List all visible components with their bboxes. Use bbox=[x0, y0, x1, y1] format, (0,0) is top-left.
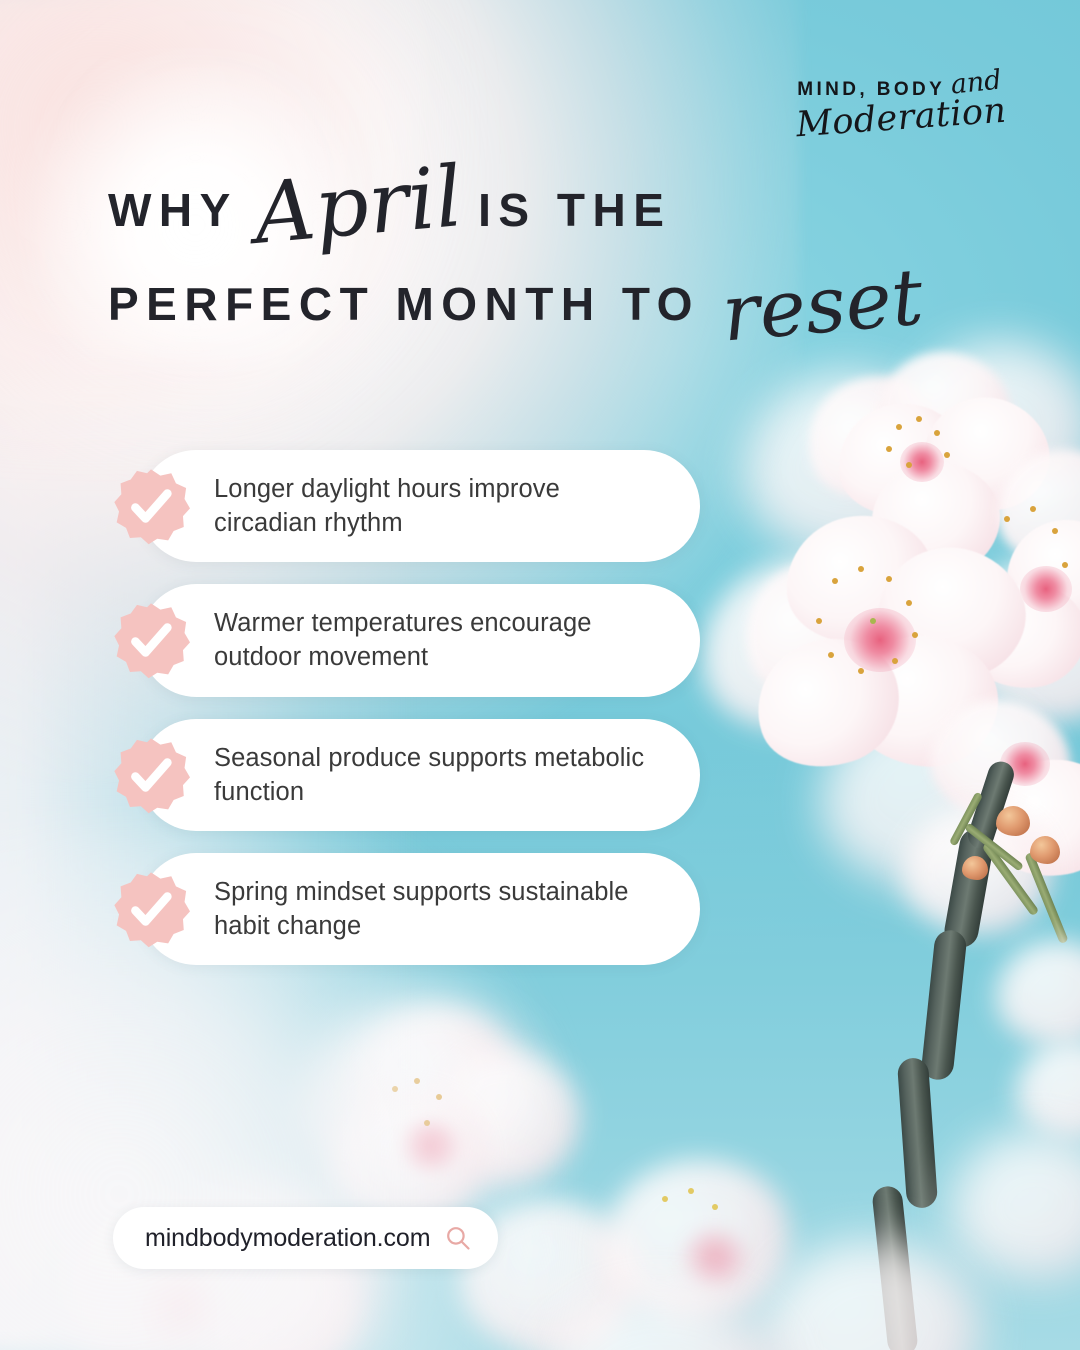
headline-word-is-the: IS THE bbox=[478, 187, 671, 233]
headline-line-1: WHY April IS THE bbox=[108, 176, 948, 243]
headline-word-perfect-month-to: PERFECT MONTH TO bbox=[108, 281, 700, 327]
benefit-card-list: Longer daylight hours improve circadian … bbox=[140, 450, 700, 987]
check-icon bbox=[112, 601, 190, 679]
check-icon bbox=[112, 870, 190, 948]
brand-logo: MIND, BODY and Moderation bbox=[796, 72, 1003, 136]
headline-script-reset: reset bbox=[720, 267, 926, 347]
website-url-text: mindbodymoderation.com bbox=[145, 1224, 430, 1253]
list-item: Warmer temperatures encourage outdoor mo… bbox=[140, 584, 700, 696]
list-item: Spring mindset supports sustainable habi… bbox=[140, 853, 700, 965]
list-item: Longer daylight hours improve circadian … bbox=[140, 450, 700, 562]
list-item: Seasonal produce supports metabolic func… bbox=[140, 719, 700, 831]
check-icon bbox=[112, 467, 190, 545]
headline-word-why: WHY bbox=[108, 187, 238, 233]
poster-canvas: MIND, BODY and Moderation WHY April IS T… bbox=[0, 0, 1080, 1350]
headline-script-april: April bbox=[251, 163, 464, 248]
headline-line-2: PERFECT MONTH TO reset bbox=[108, 273, 948, 335]
list-item-label: Seasonal produce supports metabolic func… bbox=[214, 741, 670, 809]
list-item-label: Warmer temperatures encourage outdoor mo… bbox=[214, 606, 670, 674]
page-title: WHY April IS THE PERFECT MONTH TO reset bbox=[108, 176, 948, 336]
brand-logo-moderation: Moderation bbox=[795, 94, 1007, 144]
list-item-label: Longer daylight hours improve circadian … bbox=[214, 472, 670, 540]
check-icon bbox=[112, 736, 190, 814]
list-item-label: Spring mindset supports sustainable habi… bbox=[214, 875, 670, 943]
website-url-pill[interactable]: mindbodymoderation.com bbox=[113, 1207, 498, 1269]
search-icon[interactable] bbox=[444, 1224, 472, 1252]
